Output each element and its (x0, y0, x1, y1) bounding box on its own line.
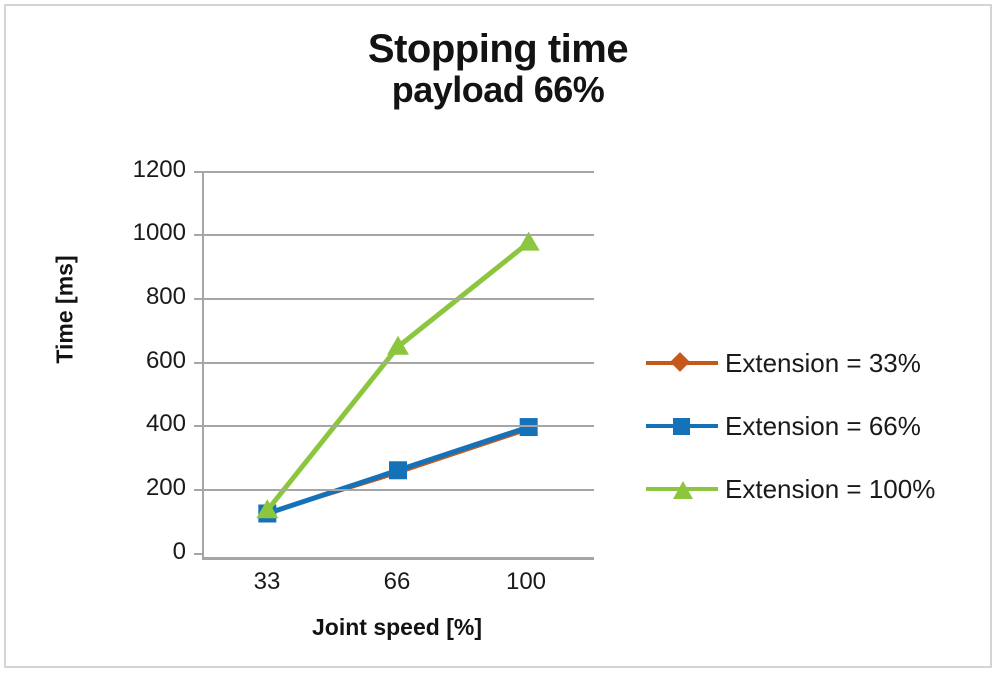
y-axis-tick-labels: 1200 1000 800 600 400 200 0 (94, 6, 186, 682)
gridline-200 (202, 489, 594, 491)
x-tick-label-33: 33 (217, 568, 317, 596)
legend-label-extension-33: Extension = 33% (718, 348, 921, 379)
plot-area (202, 171, 594, 558)
y-tick-label-800: 800 (96, 283, 186, 311)
chart-legend: Extension = 33% Extension = 66% Extensio… (646, 338, 986, 527)
y-tick-label-0: 0 (96, 538, 186, 566)
gridline-800 (202, 298, 594, 300)
y-tick-label-1200: 1200 (96, 156, 186, 184)
legend-swatch-extension-100 (646, 476, 718, 502)
gridline-1200 (202, 171, 594, 173)
chart-container: Stopping time payload 66% Time [ms] Join… (4, 4, 992, 668)
y-tick-label-600: 600 (96, 347, 186, 375)
y-tick-label-200: 200 (96, 474, 186, 502)
diamond-marker-icon (670, 352, 690, 372)
legend-item-extension-33[interactable]: Extension = 33% (646, 338, 986, 388)
y-tick-label-1000: 1000 (96, 219, 186, 247)
y-axis-title: Time [ms] (52, 240, 79, 380)
legend-item-extension-100[interactable]: Extension = 100% (646, 464, 986, 514)
triangle-marker-icon (673, 481, 693, 499)
x-axis-title: Joint speed [%] (202, 614, 592, 641)
gridline-1000 (202, 234, 594, 236)
legend-item-extension-66[interactable]: Extension = 66% (646, 401, 986, 451)
x-tick-label-66: 66 (347, 568, 447, 596)
data-point-marker (389, 461, 407, 479)
x-tick-label-100: 100 (476, 568, 576, 596)
legend-label-extension-66: Extension = 66% (718, 411, 921, 442)
y-tick-label-400: 400 (96, 410, 186, 438)
gridline-400 (202, 425, 594, 427)
data-point-marker (520, 418, 538, 436)
series-plot-svg (202, 171, 594, 558)
legend-swatch-extension-66 (646, 413, 718, 439)
legend-swatch-extension-33 (646, 350, 718, 376)
square-marker-icon (673, 418, 690, 435)
gridline-600 (202, 362, 594, 364)
legend-label-extension-100: Extension = 100% (718, 474, 935, 505)
